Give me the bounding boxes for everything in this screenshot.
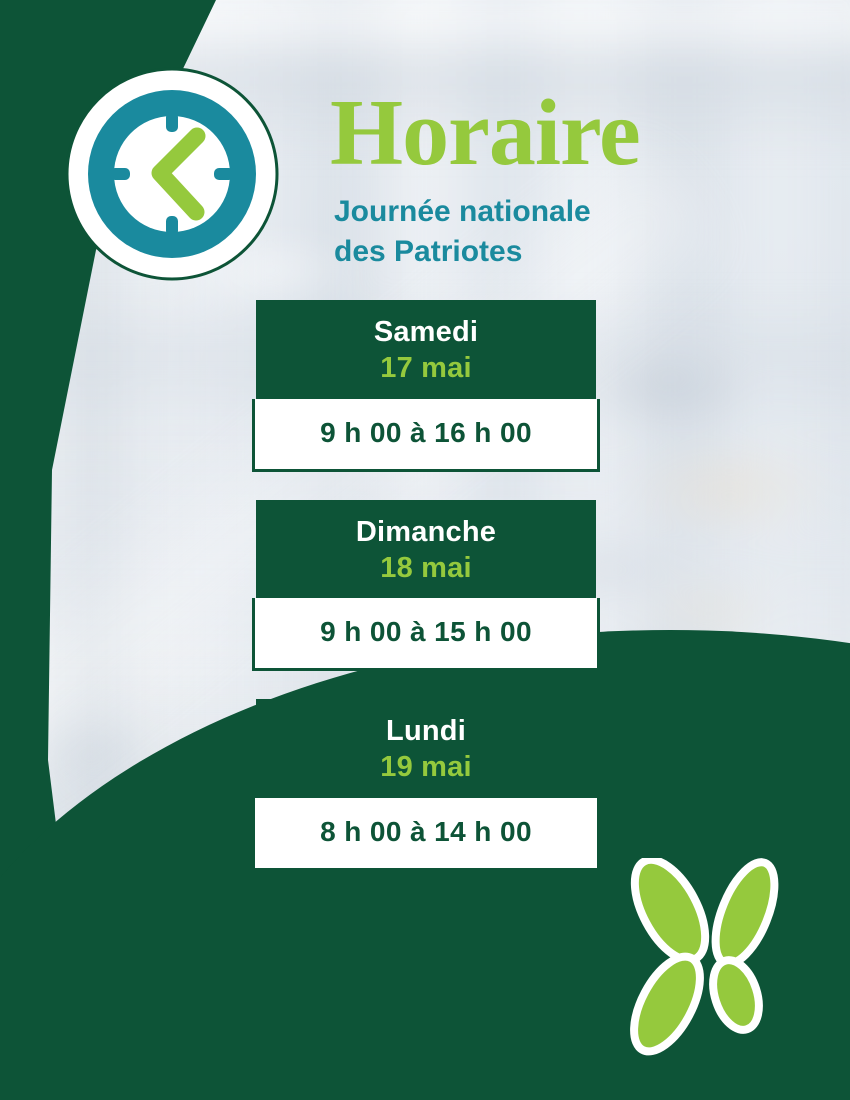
- schedule-card-body: 9 h 00 à 16 h 00: [252, 399, 600, 472]
- schedule-card-header: Lundi 19 mai: [256, 699, 596, 798]
- poster-heading: Horaire Journée nationale des Patriotes: [330, 88, 750, 271]
- schedule-day: Lundi: [266, 713, 586, 749]
- schedule-card-body: 9 h 00 à 15 h 00: [252, 598, 600, 671]
- schedule-date: 18 mai: [266, 550, 586, 586]
- subtitle-line-2: des Patriotes: [334, 235, 522, 268]
- schedule-card-header: Dimanche 18 mai: [256, 500, 596, 599]
- schedule-hours: 8 h 00 à 14 h 00: [263, 816, 589, 848]
- schedule-card: Samedi 17 mai 9 h 00 à 16 h 00: [256, 300, 596, 472]
- page-title: Horaire: [330, 88, 750, 178]
- schedule-card: Lundi 19 mai 8 h 00 à 14 h 00: [256, 699, 596, 871]
- schedule-card: Dimanche 18 mai 9 h 00 à 15 h 00: [256, 500, 596, 672]
- schedule-card-body: 8 h 00 à 14 h 00: [252, 798, 600, 871]
- schedule-date: 17 mai: [266, 350, 586, 386]
- schedule-date: 19 mai: [266, 749, 586, 785]
- schedule-poster: Horaire Journée nationale des Patriotes …: [0, 0, 850, 1100]
- butterfly-logo-icon: [612, 858, 802, 1058]
- schedule-card-header: Samedi 17 mai: [256, 300, 596, 399]
- clock-icon: [64, 66, 280, 282]
- schedule-day: Dimanche: [266, 514, 586, 550]
- schedule-hours: 9 h 00 à 16 h 00: [263, 417, 589, 449]
- schedule-hours: 9 h 00 à 15 h 00: [263, 616, 589, 648]
- schedule-list: Samedi 17 mai 9 h 00 à 16 h 00 Dimanche …: [256, 300, 596, 871]
- subtitle-line-1: Journée nationale: [334, 195, 591, 228]
- schedule-day: Samedi: [266, 314, 586, 350]
- page-subtitle: Journée nationale des Patriotes: [334, 192, 750, 271]
